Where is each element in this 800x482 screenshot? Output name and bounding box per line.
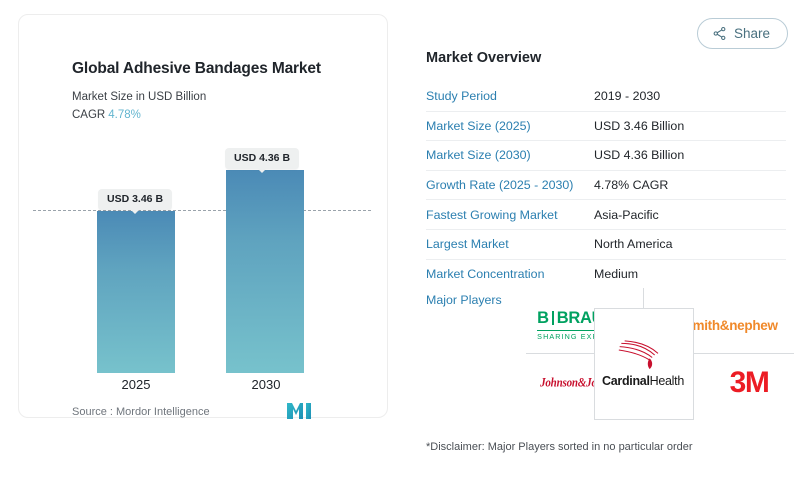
logo-cardinal-health: CardinalHealth <box>596 314 690 412</box>
row-key: Growth Rate (2025 - 2030) <box>426 170 594 200</box>
bar-label-2030: USD 4.36 B <box>225 148 299 169</box>
bar-chart-plot: USD 3.46 B USD 4.36 B 2025 2030 <box>19 15 389 419</box>
overview-title: Market Overview <box>426 50 541 66</box>
major-players-grid: BBRAUN SHARING EXPERTISE smith&neph <box>526 288 794 418</box>
row-key: Largest Market <box>426 229 594 259</box>
3m-wordmark: 3M <box>730 366 769 400</box>
row-value: Asia-Pacific <box>594 200 786 230</box>
table-row: Market Size (2030) USD 4.36 Billion <box>426 141 786 171</box>
bar-label-2025: USD 3.46 B <box>98 189 172 210</box>
table-row: Fastest Growing Market Asia-Pacific <box>426 200 786 230</box>
smith-nephew-wordmark: smith&nephew <box>685 318 777 333</box>
cardinal-health-wordmark: CardinalHealth <box>602 374 684 388</box>
row-key: Market Size (2025) <box>426 111 594 141</box>
source-text: Source : Mordor Intelligence <box>72 406 210 418</box>
row-value: USD 4.36 Billion <box>594 141 786 171</box>
table-row: Growth Rate (2025 - 2030) 4.78% CAGR <box>426 170 786 200</box>
x-axis-label-2025: 2025 <box>81 377 191 392</box>
row-value: Medium <box>594 259 786 288</box>
row-value: 4.78% CAGR <box>594 170 786 200</box>
table-row: Study Period 2019 - 2030 <box>426 82 786 111</box>
bbraun-word1: B <box>537 309 549 327</box>
table-row: Market Size (2025) USD 3.46 Billion <box>426 111 786 141</box>
row-key: Market Concentration <box>426 259 594 288</box>
row-key: Market Size (2030) <box>426 141 594 171</box>
chart-card: Global Adhesive Bandages Market Market S… <box>18 14 388 418</box>
share-button-label: Share <box>734 26 770 41</box>
row-key: Fastest Growing Market <box>426 200 594 230</box>
x-axis-label-2030: 2030 <box>211 377 321 392</box>
bar-2030[interactable] <box>226 170 304 373</box>
mordor-intelligence-logo <box>286 401 312 420</box>
row-value: USD 3.46 Billion <box>594 111 786 141</box>
row-key: Study Period <box>426 82 594 111</box>
reference-dashed-line <box>33 210 371 211</box>
bar-2025[interactable] <box>97 211 175 373</box>
cardinal-word-bold: Cardinal <box>602 374 650 388</box>
major-players-label: Major Players <box>426 293 502 307</box>
share-icon <box>712 26 727 41</box>
market-snapshot-card: Global Adhesive Bandages Market Market S… <box>0 0 800 482</box>
overview-panel: Share Market Overview Study Period 2019 … <box>408 0 800 482</box>
row-value: 2019 - 2030 <box>594 82 786 111</box>
table-row: Market Concentration Medium <box>426 259 786 288</box>
logo-3m: 3M <box>704 364 794 402</box>
cardinal-health-bird-icon <box>618 338 668 372</box>
cardinal-word-light: Health <box>650 374 684 388</box>
share-button[interactable]: Share <box>697 18 788 49</box>
disclaimer-text: *Disclaimer: Major Players sorted in no … <box>426 441 693 453</box>
bbraun-divider-bar <box>552 311 554 325</box>
table-row: Largest Market North America <box>426 229 786 259</box>
market-overview-table: Study Period 2019 - 2030 Market Size (20… <box>426 82 786 288</box>
row-value: North America <box>594 229 786 259</box>
